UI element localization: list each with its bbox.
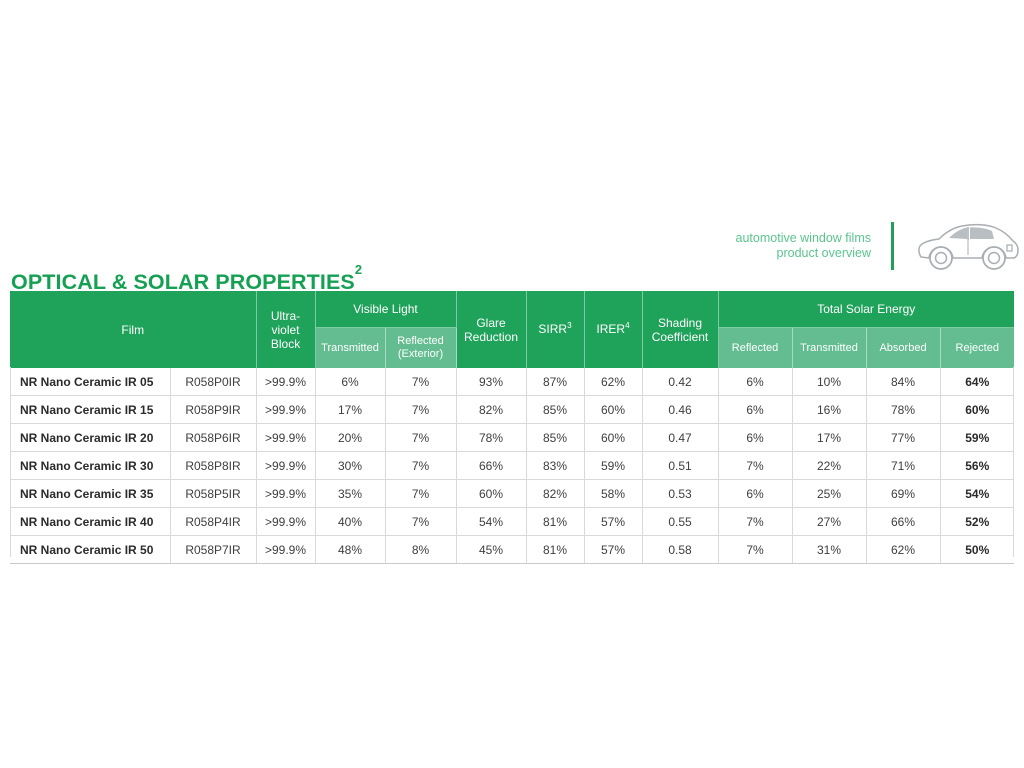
cell-tse-reflected: 6% xyxy=(718,396,792,424)
cell-tse-absorbed: 62% xyxy=(866,536,940,564)
cell-irer: 59% xyxy=(584,452,642,480)
cell-shading-coefficient: 0.46 xyxy=(642,396,718,424)
table-row: NR Nano Ceramic IR 20R058P6IR>99.9%20%7%… xyxy=(10,424,1014,452)
cell-tse-reflected: 6% xyxy=(718,424,792,452)
cell-irer: 60% xyxy=(584,424,642,452)
subheader-vl-reflected-line1: Reflected xyxy=(397,335,443,347)
cell-tse-rejected: 50% xyxy=(940,536,1014,564)
cell-glare-reduction: 45% xyxy=(456,536,526,564)
cell-sirr: 81% xyxy=(526,536,584,564)
cell-vl-reflected: 7% xyxy=(385,508,456,536)
subheader-tse-rejected: Rejected xyxy=(940,328,1014,369)
table-row: NR Nano Ceramic IR 40R058P4IR>99.9%40%7%… xyxy=(10,508,1014,536)
cell-vl-reflected: 7% xyxy=(385,368,456,396)
header-irer-superscript: 4 xyxy=(625,321,630,330)
cell-film: NR Nano Ceramic IR 05 xyxy=(10,368,170,396)
header-glare-line2: Reduction xyxy=(464,330,518,344)
header-uv-block: Ultra- violet Block xyxy=(256,291,315,368)
cell-tse-rejected: 52% xyxy=(940,508,1014,536)
cell-vl-reflected: 8% xyxy=(385,536,456,564)
cell-vl-reflected: 7% xyxy=(385,396,456,424)
cell-vl-transmitted: 35% xyxy=(315,480,385,508)
cell-tse-rejected: 64% xyxy=(940,368,1014,396)
cell-tse-reflected: 6% xyxy=(718,480,792,508)
cell-tse-transmitted: 25% xyxy=(792,480,866,508)
brand-divider xyxy=(891,222,894,270)
subheader-tse-transmitted: Transmitted xyxy=(792,328,866,369)
header-uv-block-line2: violet xyxy=(272,323,300,337)
cell-tse-transmitted: 31% xyxy=(792,536,866,564)
cell-shading-coefficient: 0.53 xyxy=(642,480,718,508)
cell-tse-rejected: 54% xyxy=(940,480,1014,508)
table-body: NR Nano Ceramic IR 05R058P0IR>99.9%6%7%9… xyxy=(10,368,1014,564)
page-title-superscript: 2 xyxy=(355,262,362,277)
cell-tse-reflected: 6% xyxy=(718,368,792,396)
subheader-vl-transmitted: Transmitted xyxy=(315,328,385,369)
header-glare-line1: Glare xyxy=(476,316,505,330)
table-header-row-groups: Film Ultra- violet Block Visible Light G… xyxy=(10,291,1014,328)
cell-film: NR Nano Ceramic IR 40 xyxy=(10,508,170,536)
cell-part: R058P9IR xyxy=(170,396,256,424)
header-uv-block-line1: Ultra- xyxy=(271,309,300,323)
header-visible-light: Visible Light xyxy=(315,291,456,328)
cell-tse-rejected: 59% xyxy=(940,424,1014,452)
header-uv-block-line3: Block xyxy=(271,337,300,351)
cell-uv-block: >99.9% xyxy=(256,424,315,452)
cell-film: NR Nano Ceramic IR 50 xyxy=(10,536,170,564)
cell-part: R058P0IR xyxy=(170,368,256,396)
brand-tagline: automotive window films product overview xyxy=(736,231,871,261)
cell-uv-block: >99.9% xyxy=(256,508,315,536)
header-film: Film xyxy=(10,291,256,368)
brand-tagline-line2: product overview xyxy=(736,246,871,261)
header-shading-line2: Coefficient xyxy=(652,330,708,344)
cell-uv-block: >99.9% xyxy=(256,536,315,564)
table-left-border xyxy=(10,367,11,557)
cell-vl-transmitted: 17% xyxy=(315,396,385,424)
table-row: NR Nano Ceramic IR 35R058P5IR>99.9%35%7%… xyxy=(10,480,1014,508)
table-header: Film Ultra- violet Block Visible Light G… xyxy=(10,291,1014,368)
cell-sirr: 81% xyxy=(526,508,584,536)
cell-glare-reduction: 93% xyxy=(456,368,526,396)
cell-glare-reduction: 66% xyxy=(456,452,526,480)
subheader-vl-reflected-line2: (Exterior) xyxy=(398,348,443,360)
cell-tse-absorbed: 69% xyxy=(866,480,940,508)
header-shading-coefficient: Shading Coefficient xyxy=(642,291,718,368)
cell-film: NR Nano Ceramic IR 15 xyxy=(10,396,170,424)
cell-sirr: 87% xyxy=(526,368,584,396)
cell-tse-absorbed: 78% xyxy=(866,396,940,424)
cell-tse-absorbed: 84% xyxy=(866,368,940,396)
cell-irer: 57% xyxy=(584,508,642,536)
cell-shading-coefficient: 0.42 xyxy=(642,368,718,396)
cell-part: R058P7IR xyxy=(170,536,256,564)
cell-tse-rejected: 60% xyxy=(940,396,1014,424)
table-right-border xyxy=(1013,367,1014,557)
header-irer: IRER4 xyxy=(584,291,642,368)
table-row: NR Nano Ceramic IR 50R058P7IR>99.9%48%8%… xyxy=(10,536,1014,564)
cell-tse-reflected: 7% xyxy=(718,452,792,480)
optical-solar-properties-table: Film Ultra- violet Block Visible Light G… xyxy=(10,291,1014,564)
cell-sirr: 85% xyxy=(526,396,584,424)
cell-vl-transmitted: 48% xyxy=(315,536,385,564)
cell-film: NR Nano Ceramic IR 20 xyxy=(10,424,170,452)
cell-part: R058P4IR xyxy=(170,508,256,536)
cell-tse-absorbed: 71% xyxy=(866,452,940,480)
cell-glare-reduction: 54% xyxy=(456,508,526,536)
cell-tse-reflected: 7% xyxy=(718,536,792,564)
cell-tse-absorbed: 77% xyxy=(866,424,940,452)
header-sirr-label: SIRR xyxy=(538,322,567,336)
cell-irer: 62% xyxy=(584,368,642,396)
cell-sirr: 85% xyxy=(526,424,584,452)
brand-tagline-line1: automotive window films xyxy=(736,231,871,246)
header-sirr-superscript: 3 xyxy=(567,321,572,330)
table-row: NR Nano Ceramic IR 15R058P9IR>99.9%17%7%… xyxy=(10,396,1014,424)
header-shading-line1: Shading xyxy=(658,316,702,330)
subheader-tse-absorbed: Absorbed xyxy=(866,328,940,369)
cell-part: R058P6IR xyxy=(170,424,256,452)
cell-uv-block: >99.9% xyxy=(256,452,315,480)
cell-irer: 58% xyxy=(584,480,642,508)
header-total-solar-energy: Total Solar Energy xyxy=(718,291,1014,328)
cell-part: R058P5IR xyxy=(170,480,256,508)
cell-glare-reduction: 82% xyxy=(456,396,526,424)
cell-shading-coefficient: 0.55 xyxy=(642,508,718,536)
cell-irer: 60% xyxy=(584,396,642,424)
cell-shading-coefficient: 0.51 xyxy=(642,452,718,480)
cell-tse-transmitted: 27% xyxy=(792,508,866,536)
car-side-illustration xyxy=(916,219,1020,273)
table-row: NR Nano Ceramic IR 30R058P8IR>99.9%30%7%… xyxy=(10,452,1014,480)
cell-tse-rejected: 56% xyxy=(940,452,1014,480)
cell-uv-block: >99.9% xyxy=(256,396,315,424)
subheader-tse-reflected: Reflected xyxy=(718,328,792,369)
cell-sirr: 82% xyxy=(526,480,584,508)
cell-glare-reduction: 60% xyxy=(456,480,526,508)
cell-tse-reflected: 7% xyxy=(718,508,792,536)
cell-vl-transmitted: 20% xyxy=(315,424,385,452)
cell-vl-transmitted: 30% xyxy=(315,452,385,480)
cell-vl-transmitted: 6% xyxy=(315,368,385,396)
cell-vl-reflected: 7% xyxy=(385,424,456,452)
cell-tse-transmitted: 17% xyxy=(792,424,866,452)
cell-shading-coefficient: 0.58 xyxy=(642,536,718,564)
header-sirr: SIRR3 xyxy=(526,291,584,368)
cell-tse-transmitted: 10% xyxy=(792,368,866,396)
table-row: NR Nano Ceramic IR 05R058P0IR>99.9%6%7%9… xyxy=(10,368,1014,396)
header-irer-label: IRER xyxy=(596,322,625,336)
cell-sirr: 83% xyxy=(526,452,584,480)
cell-uv-block: >99.9% xyxy=(256,368,315,396)
brand-block: automotive window films product overview xyxy=(700,215,1020,277)
cell-uv-block: >99.9% xyxy=(256,480,315,508)
cell-irer: 57% xyxy=(584,536,642,564)
cell-film: NR Nano Ceramic IR 30 xyxy=(10,452,170,480)
cell-glare-reduction: 78% xyxy=(456,424,526,452)
cell-vl-reflected: 7% xyxy=(385,480,456,508)
cell-shading-coefficient: 0.47 xyxy=(642,424,718,452)
cell-tse-absorbed: 66% xyxy=(866,508,940,536)
cell-film: NR Nano Ceramic IR 35 xyxy=(10,480,170,508)
cell-tse-transmitted: 16% xyxy=(792,396,866,424)
cell-vl-reflected: 7% xyxy=(385,452,456,480)
header-glare-reduction: Glare Reduction xyxy=(456,291,526,368)
cell-part: R058P8IR xyxy=(170,452,256,480)
cell-vl-transmitted: 40% xyxy=(315,508,385,536)
cell-tse-transmitted: 22% xyxy=(792,452,866,480)
subheader-vl-reflected: Reflected (Exterior) xyxy=(385,328,456,369)
